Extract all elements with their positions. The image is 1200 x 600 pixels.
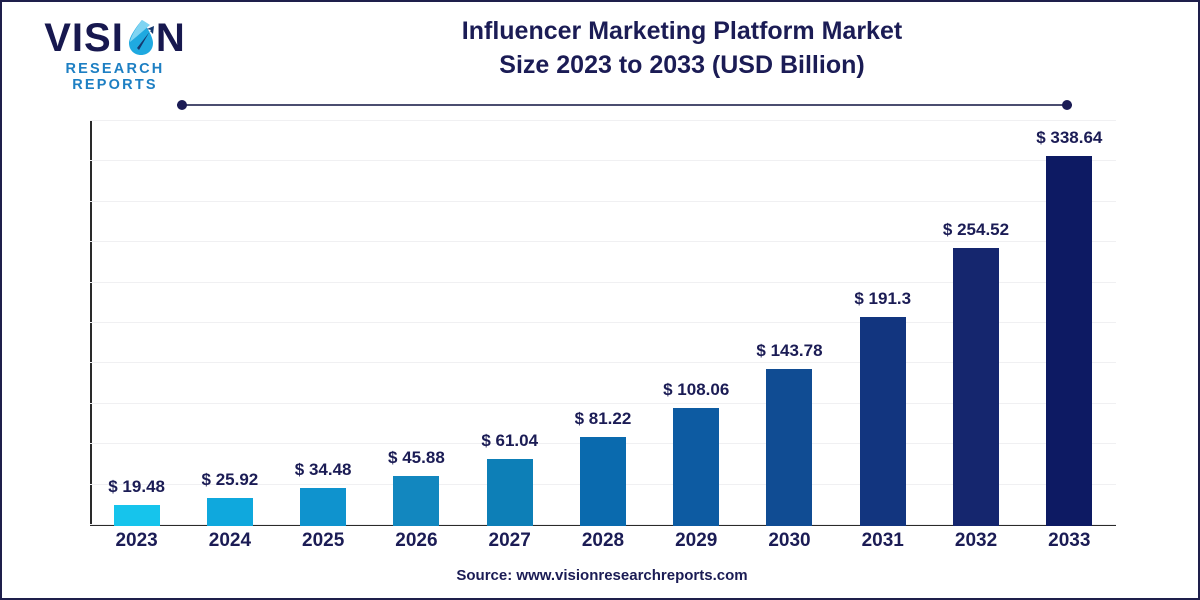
bar[interactable] <box>487 459 533 526</box>
bar-value-label: $ 338.64 <box>1036 128 1102 148</box>
title-divider <box>177 100 1072 110</box>
bar-slot: $ 143.78 <box>743 120 836 526</box>
x-axis-label: 2023 <box>90 530 183 552</box>
bar[interactable] <box>300 488 346 526</box>
x-axis-label: 2024 <box>183 530 276 552</box>
bar-slot: $ 191.3 <box>836 120 929 526</box>
bar[interactable] <box>860 317 906 526</box>
bar-slot: $ 81.22 <box>556 120 649 526</box>
divider-dot-right-icon <box>1062 100 1072 110</box>
bar-slot: $ 61.04 <box>463 120 556 526</box>
bar-slot: $ 45.88 <box>370 120 463 526</box>
bar-slot: $ 108.06 <box>650 120 743 526</box>
plot-area: $ 19.48$ 25.92$ 34.48$ 45.88$ 61.04$ 81.… <box>90 120 1116 526</box>
x-axis-label: 2027 <box>463 530 556 552</box>
chart-title-line-2: Size 2023 to 2033 (USD Billion) <box>232 48 1132 82</box>
chart-title-line-1: Influencer Marketing Platform Market <box>232 14 1132 48</box>
bar-value-label: $ 81.22 <box>575 409 632 429</box>
x-axis-label: 2033 <box>1023 530 1116 552</box>
x-axis-label: 2030 <box>743 530 836 552</box>
bar[interactable] <box>580 437 626 526</box>
droplet-arrow-icon <box>123 18 157 58</box>
divider-line <box>177 104 1072 106</box>
bar-value-label: $ 61.04 <box>481 431 538 451</box>
bar-value-label: $ 191.3 <box>854 289 911 309</box>
chart-title: Influencer Marketing Platform Market Siz… <box>232 14 1132 82</box>
bar-value-label: $ 45.88 <box>388 448 445 468</box>
bar[interactable] <box>393 476 439 526</box>
divider-dot-left-icon <box>177 100 187 110</box>
bar-value-label: $ 108.06 <box>663 380 729 400</box>
vision-research-reports-logo: VISI N RESEARCH REPORTS <box>20 16 210 92</box>
bar-value-label: $ 34.48 <box>295 460 352 480</box>
bar-value-label: $ 143.78 <box>756 341 822 361</box>
x-axis-label: 2026 <box>370 530 463 552</box>
x-axis-label: 2032 <box>930 530 1023 552</box>
bar-series: $ 19.48$ 25.92$ 34.48$ 45.88$ 61.04$ 81.… <box>90 120 1116 526</box>
x-axis-labels: 2023202420252026202720282029203020312032… <box>90 530 1116 560</box>
bar[interactable] <box>953 248 999 526</box>
logo-wordmark: VISI N <box>20 16 210 60</box>
bar-slot: $ 34.48 <box>277 120 370 526</box>
bar-slot: $ 338.64 <box>1023 120 1116 526</box>
bar-value-label: $ 25.92 <box>202 470 259 490</box>
bar[interactable] <box>114 505 160 526</box>
bar[interactable] <box>766 369 812 526</box>
x-axis-label: 2029 <box>650 530 743 552</box>
chart-page: VISI N RESEARCH REPORTS Influencer Marke… <box>0 0 1200 600</box>
bar[interactable] <box>1046 156 1092 526</box>
x-axis-label: 2028 <box>556 530 649 552</box>
logo-subtitle: RESEARCH REPORTS <box>20 61 210 93</box>
x-axis-label: 2031 <box>836 530 929 552</box>
x-axis-label: 2025 <box>277 530 370 552</box>
bar-slot: $ 19.48 <box>90 120 183 526</box>
bar[interactable] <box>673 408 719 526</box>
bar-slot: $ 25.92 <box>183 120 276 526</box>
bar-value-label: $ 19.48 <box>108 477 165 497</box>
bar[interactable] <box>207 498 253 526</box>
logo-word-part2: N <box>156 16 186 60</box>
bar-slot: $ 254.52 <box>930 120 1023 526</box>
bar-value-label: $ 254.52 <box>943 220 1009 240</box>
source-note: Source: www.visionresearchreports.com <box>2 567 1200 584</box>
logo-word-part1: VISI <box>44 16 124 60</box>
